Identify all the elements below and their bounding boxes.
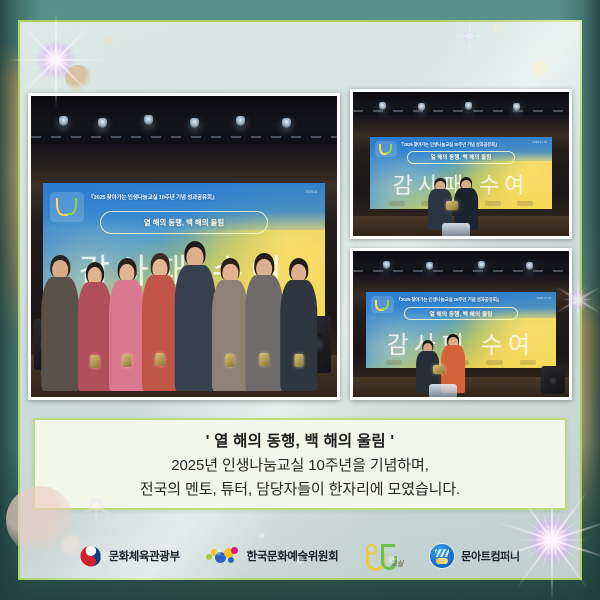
stage-lamp-icon [478, 261, 485, 269]
award-plaque [446, 201, 458, 210]
logo-moonart[interactable]: 문아트컴퍼니 [430, 544, 519, 568]
logo-arko[interactable]: 한국문화예술위원회 [206, 547, 339, 566]
stage-scene: 2025.11.30 『2025 찾아가는 인생나눔교실 10주년 기념 성과공… [353, 251, 569, 397]
stage-lamp-icon [418, 103, 425, 111]
stage-scene: 2025.11 『2025 찾아가는 인생나눔교실 10주년 기념 성과공유회』… [31, 96, 337, 397]
insaeng-nanum-sub-label: 교실 [390, 559, 403, 569]
stage-lamp-icon [190, 118, 199, 128]
caption-line-2: 2025년 인생나눔교실 10주년을 기념하며, [171, 454, 429, 475]
stage-lamp-icon [465, 102, 472, 110]
screen-header-text: 『2025 찾아가는 인생나눔교실 10주년 기념 성과공유회』 [399, 142, 541, 148]
arko-dot [231, 547, 238, 554]
award-table [442, 223, 470, 236]
award-plaque [433, 365, 445, 374]
card-news-image: 2025.11 『2025 찾아가는 인생나눔교실 10주년 기념 성과공유회』… [0, 0, 600, 600]
award-recipient [245, 253, 282, 391]
stage-lamp-icon [383, 261, 390, 269]
award-recipient [78, 262, 112, 391]
award-recipient [212, 258, 248, 391]
logo-insaeng-nanum[interactable]: 교실 [364, 542, 404, 570]
insaeng-nanum-icon: 교실 [364, 542, 404, 570]
logo-arko-label: 한국문화예술위원회 [247, 548, 339, 564]
caption-line-3: 전국의 멘토, 튜터, 담당자들이 한자리에 모였습니다. [140, 478, 460, 499]
lighting-truss [31, 96, 337, 144]
award-handover-photo-1[interactable]: 2025.11.30 『2025 찾아가는 인생나눔교실 10주년 기념 성과공… [350, 89, 572, 239]
logo-moonart-label: 문아트컴퍼니 [461, 548, 519, 564]
stage-lamp-icon [98, 118, 107, 128]
award-recipient [142, 253, 178, 391]
logo-mcst[interactable]: 문화체육관광부 [80, 546, 179, 567]
moonart-badge-icon [430, 544, 454, 568]
caption-card: ' 열 해의 동행, 백 해의 울림 ' 2025년 인생나눔교실 10주년을 … [33, 418, 567, 510]
arko-dot [228, 557, 234, 563]
sponsor-logo-bar: 문화체육관광부 한국문화예술위원회 교실 문아트컴퍼니 [20, 528, 580, 584]
screen-header-text: 『2025 찾아가는 인생나눔교실 10주년 기념 성과공유회』 [396, 297, 544, 303]
stage-lamp-icon [144, 115, 153, 125]
arko-dots-icon [206, 547, 240, 566]
stage-lamp-icon [379, 102, 386, 110]
taegeuk-icon [80, 546, 101, 567]
stage-lamp-icon [426, 262, 433, 270]
screen-header-text: 『2025 찾아가는 인생나눔교실 10주년 기념 성과공유회』 [88, 193, 308, 201]
logo-mcst-label: 문화체육관광부 [108, 548, 179, 564]
lighting-truss [353, 251, 569, 274]
stage-scene: 2025.11.30 『2025 찾아가는 인생나눔교실 10주년 기념 성과공… [353, 92, 569, 236]
award-recipient [280, 258, 317, 391]
stage-lamp-icon [526, 262, 533, 270]
insaeng-nanum-icon [371, 296, 394, 313]
award-recipient [175, 241, 215, 391]
stage-lamp-icon [513, 103, 520, 111]
award-recipient [109, 258, 145, 391]
insaeng-nanum-icon [375, 141, 397, 157]
stage-lamp-icon [282, 118, 291, 128]
caption-slogan: ' 열 해의 동행, 백 해의 울림 ' [206, 429, 394, 451]
stage-lamp-icon [236, 116, 245, 126]
award-recipient [42, 255, 79, 391]
award-recipients-row [34, 216, 334, 391]
lighting-truss [353, 92, 569, 115]
group-award-photo[interactable]: 2025.11 『2025 찾아가는 인생나눔교실 10주년 기념 성과공유회』… [28, 93, 340, 400]
screen-slogan-pill: 열 해의 동행, 백 해의 울림 [404, 307, 518, 320]
screen-slogan-pill: 열 해의 동행, 백 해의 울림 [407, 151, 516, 164]
stage-speaker [541, 366, 565, 394]
stage-lamp-icon [59, 116, 68, 126]
award-table [429, 384, 457, 397]
award-handover-photo-2[interactable]: 2025.11.30 『2025 찾아가는 인생나눔교실 10주년 기념 성과공… [350, 248, 572, 400]
